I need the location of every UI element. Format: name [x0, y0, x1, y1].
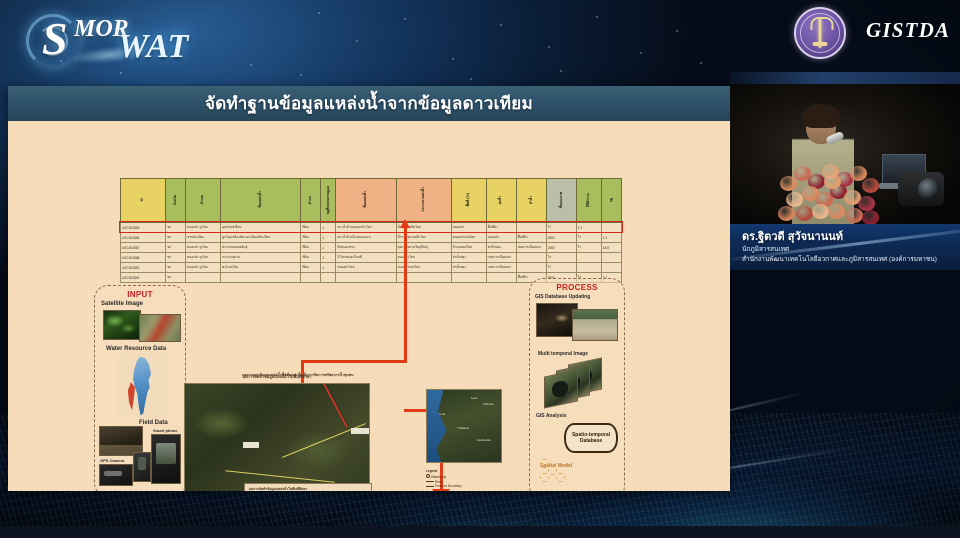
table-cell: ที่ดิน	[301, 263, 321, 273]
table-cell: พื้นที่ผิว	[516, 233, 546, 243]
table-cell: ปี่ โคกหนองโดนที่	[336, 253, 396, 263]
table-cell: ไร่	[576, 243, 601, 253]
table-cell	[336, 273, 396, 283]
table-cell: USC002891	[121, 263, 166, 273]
arrow-stem-left	[301, 360, 407, 363]
university-seal-icon	[794, 7, 846, 59]
map-marker	[243, 442, 259, 448]
label-gis-analysis: GIS Analysis	[536, 413, 566, 419]
table-cell	[486, 273, 516, 283]
speaker-role: นักภูมิสารสนเทศ	[742, 244, 789, 254]
table-header-cell: จังหวัด	[166, 179, 186, 223]
table-row[interactable]: USC002883ขกหนองบัว ภูเวียงอุบลรัตน์เขื่อ…	[121, 223, 622, 233]
road-line	[318, 383, 348, 428]
table-cell: ลำน้ำพอง	[451, 263, 486, 273]
video-top-band	[730, 72, 960, 84]
table-cell: หนองบัว ภูเวียง	[186, 263, 221, 273]
table-cell: สระน้ำบ้านหนองหว้าโคก	[336, 223, 396, 233]
table-header-cell: อำเภอ	[186, 179, 221, 223]
table-cell: USC002892	[121, 273, 166, 283]
trident-icon	[819, 18, 822, 48]
table-cell: ที่ดิน	[301, 253, 321, 263]
thumb-smart-phone	[151, 434, 181, 484]
database-table: IDจังหวัดอำเภอชื่อแหล่งน้ำตำบลหมู่ที่/หน…	[120, 178, 622, 283]
table-cell: พงโนนเวียง	[221, 263, 301, 273]
table-header-row: IDจังหวัดอำเภอชื่อแหล่งน้ำตำบลหมู่ที่/หน…	[121, 179, 622, 223]
table-cell	[516, 253, 546, 263]
table-header-cell: ปีที่สำรวจ	[576, 179, 601, 223]
map-label-laos: Laos	[471, 396, 478, 400]
table-cell: สระน้ำบ้านโกงหนองหวะ	[336, 233, 396, 243]
table-cell	[301, 273, 321, 283]
speaker-video[interactable]	[730, 72, 960, 224]
label-water-resource-data: Water Resource Data	[106, 346, 166, 352]
slide-title: จัดทำฐานข้อมูลแหล่งน้ำจากข้อมูลดาวเทียม	[205, 90, 533, 117]
thumb-satellite-image-2	[139, 314, 181, 342]
table-header-cell: หมู่ที่/หน่วยงานดูแล	[321, 179, 336, 223]
table-cell: USC002888	[121, 253, 166, 263]
table-cell	[221, 273, 301, 283]
table-cell: ขก	[166, 223, 186, 233]
satellite-basemap	[184, 383, 370, 491]
table-cell: 1	[321, 233, 336, 243]
bottom-bar	[0, 526, 960, 538]
slide-title-bar: จัดทำฐานข้อมูลแหล่งน้ำจากข้อมูลดาวเทียม	[8, 86, 730, 121]
table-cell: ผูกโยงเหมืองทิพ และเปิดเหมืองใหม่	[221, 233, 301, 243]
table-cell	[601, 223, 621, 233]
speaker-name: ดร.ฐิตวดี สุวัจนานนท์	[742, 227, 843, 245]
table-cell: ลำน้ำพอง	[486, 243, 516, 253]
table-cell: หนองบัวโคก	[336, 263, 396, 273]
thumb-thailand-water-map	[117, 354, 167, 418]
table-header-cell: พื้นที่ (ไร่)	[451, 179, 486, 223]
speaker-organization: สำนักงานพัฒนาเทคโนโลยีอวกาศและภูมิสารสนเ…	[742, 254, 937, 264]
map-label-thailand: Thailand	[457, 426, 469, 430]
input-panel: INPUT Satellite Image Water Resource Dat…	[94, 285, 186, 491]
table-cell: ขก	[166, 273, 186, 283]
label-gis-database-updating: GIS Database Updating	[535, 294, 590, 300]
table-cell: อุบลรัตน์เขื่อน	[221, 223, 301, 233]
label-smart-phone: Smart phone	[153, 428, 177, 433]
screen-root: S MOR WAT GISTDA จัดทำฐานข้อมูลแหล่งน้ำจ…	[0, 0, 960, 538]
label-field-data: Field Data	[139, 420, 168, 426]
map-label-myanmar: Myanmar	[433, 412, 446, 416]
table-cell: บ้านหนองใหม่	[451, 243, 486, 253]
table-cell: หนองบัว ภูเวียง	[186, 243, 221, 253]
table-header-cell: ID	[121, 179, 166, 223]
table-row[interactable]: USC002891ขกหนองบัว ภูเวียงพงโนนเวียงที่ด…	[121, 263, 622, 273]
label-gps-camera: GPS Camera	[100, 458, 124, 463]
gistda-logo-text: GISTDA	[866, 18, 950, 43]
table-row[interactable]: USC002887ขกหนองบัว ภูเวียงสระขาดหนองสินธ…	[121, 243, 622, 253]
speaker-name-caption: ดร.ฐิตวดี สุวัจนานนท์ นักภูมิสารสนเทศ สำ…	[730, 224, 960, 270]
province-map-title: ผลการจัดทำข้อมูลแหล่งน้ำในพื้นที่ศึกษา	[249, 487, 368, 491]
process-panel: PROCESS GIS Database Updating Multi temp…	[529, 278, 625, 491]
slide-body: IDจังหวัดอำเภอชื่อแหล่งน้ำตำบลหมู่ที่/หน…	[8, 121, 730, 491]
logo-text-wat: WAT	[118, 28, 189, 66]
boundary-line	[225, 470, 335, 482]
table-cell: เขตการเมืองนคร	[486, 263, 516, 273]
attribute-table: IDจังหวัดอำเภอชื่อแหล่งน้ำตำบลหมู่ที่/หน…	[120, 178, 622, 286]
table-cell: ขก	[166, 253, 186, 263]
table-cell: 2550	[546, 243, 576, 253]
thumb-handheld-gps	[133, 452, 151, 482]
table-cell: หนองบัว	[451, 223, 486, 233]
table-cell: 1.2	[576, 223, 601, 233]
flower-bouquet	[776, 160, 880, 222]
table-cell: ขก	[166, 263, 186, 273]
table-header-cell: ชื่อแหล่งน้ำ	[221, 179, 301, 223]
table-body: USC002883ขกหนองบัว ภูเวียงอุบลรัตน์เขื่อ…	[121, 223, 622, 283]
table-cell: ลำน้ำพอง	[451, 253, 486, 263]
thumb-lake-photo-small	[572, 309, 618, 341]
table-cell	[516, 263, 546, 273]
input-panel-title: INPUT	[95, 290, 185, 299]
table-cell: หนองบัว ภูเวียง	[186, 223, 221, 233]
table-cell: พื้นที่ผิว	[486, 223, 516, 233]
table-cell: 1	[321, 243, 336, 253]
table-cell: ที่ดิน	[301, 233, 321, 243]
table-cell	[601, 253, 621, 263]
projector-device	[898, 172, 944, 206]
hex-icon	[540, 473, 549, 482]
table-cell: บึงหนองลาด	[336, 243, 396, 253]
province-map-inset: ผลการจัดทำข้อมูลแหล่งน้ำในพื้นที่ศึกษา	[244, 483, 372, 491]
table-header-cell: ชั้นคุณภาพ	[546, 179, 576, 223]
spatio-temporal-database-shape: Spatio-temporal Database	[564, 423, 618, 453]
seal-ring	[794, 7, 846, 59]
table-cell	[576, 253, 601, 263]
table-header-cell: ชื่อแหล่งน้ำ	[336, 179, 396, 223]
table-header-cell: ลำน้ำ	[516, 179, 546, 223]
thumb-gps-camera	[99, 464, 133, 486]
speaker-hair	[802, 104, 840, 128]
table-cell: กระนวนคาม	[221, 253, 301, 263]
table-cell	[321, 273, 336, 283]
thumb-multitemporal-1	[544, 369, 578, 408]
map-caption: ผลการจัดทำข้อมูลแหล่งน้ำในพื้นที่ศึกษา	[184, 373, 370, 380]
table-cell	[576, 263, 601, 273]
table-header-cell: ฤดู	[601, 179, 621, 223]
table-cell: ขก	[166, 233, 186, 243]
table-cell	[516, 223, 546, 233]
table-cell: 1.2	[601, 233, 621, 243]
arrow-stem-down	[404, 243, 407, 363]
map-marker	[351, 428, 369, 434]
table-cell	[186, 273, 221, 283]
table-cell: 18.9	[601, 243, 621, 253]
table-header-cell: ประเภท แหล่งน้ำ	[396, 179, 451, 223]
table-cell	[601, 263, 621, 273]
table-cell: ไร่	[576, 233, 601, 243]
table-cell: ไร่	[546, 223, 576, 233]
arrow-head-up	[400, 219, 410, 228]
thumb-satellite-image-1	[103, 310, 141, 340]
table-cell: หนองบัวเขตโคก	[451, 233, 486, 243]
map-legend: Legend Waterbody River Province Boundary	[426, 469, 504, 491]
table-cell: USC002883	[121, 223, 166, 233]
table-cell: ชานกินเมือง	[186, 233, 221, 243]
map-label-vietnam: Vietnam	[483, 402, 494, 406]
table-cell: หนองบัว	[486, 233, 516, 243]
table-cell: ที่ดิน	[301, 223, 321, 233]
table-row[interactable]: USC002884ขกชานกินเมืองผูกโยงเหมืองทิพ แล…	[121, 233, 622, 243]
table-cell: สระขาดหนองสินธุ์	[221, 243, 301, 253]
table-cell: ไร่	[546, 263, 576, 273]
presentation-slide: จัดทำฐานข้อมูลแหล่งน้ำจากข้อมูลดาวเทียม …	[8, 86, 730, 491]
table-cell: ขก	[166, 243, 186, 253]
map-label-cambodia: Cambodia	[477, 438, 491, 442]
table-cell	[451, 273, 486, 283]
table-header-cell: ตำบล	[301, 179, 321, 223]
logo-letter-s: S	[42, 12, 67, 65]
table-cell: USC002884	[121, 233, 166, 243]
table-cell: เขตการเมืองนคร	[516, 243, 546, 253]
table-row[interactable]: USC002888ขกหนองบัว ภูเวียงกระนวนคามที่ดิ…	[121, 253, 622, 263]
table-cell: ไร่	[546, 253, 576, 263]
legend-item: Province Boundary	[426, 484, 504, 489]
label-satellite-image: Satellite Image	[101, 301, 143, 307]
label-multi-temporal-image: Multi temporal Image	[538, 351, 588, 357]
table-header-cell: ลุ่มน้ำ	[486, 179, 516, 223]
arrow-stem-vertical	[404, 227, 407, 243]
table-cell: 1	[321, 253, 336, 263]
table-cell: เขตการเมืองนคร	[486, 253, 516, 263]
table-cell: 1	[321, 223, 336, 233]
table-cell: 2550	[546, 233, 576, 243]
table-cell: 1	[321, 263, 336, 273]
table-cell: หนองบัว ภูเวียง	[186, 253, 221, 263]
table-cell: ที่ดิน	[301, 243, 321, 253]
smorwat-logo: S MOR WAT	[14, 6, 254, 68]
table-cell: USC002887	[121, 243, 166, 253]
region-locator-map: Laos Myanmar Thailand Vietnam Cambodia	[426, 389, 502, 463]
process-panel-title: PROCESS	[530, 283, 624, 292]
hex-icon	[556, 473, 565, 482]
